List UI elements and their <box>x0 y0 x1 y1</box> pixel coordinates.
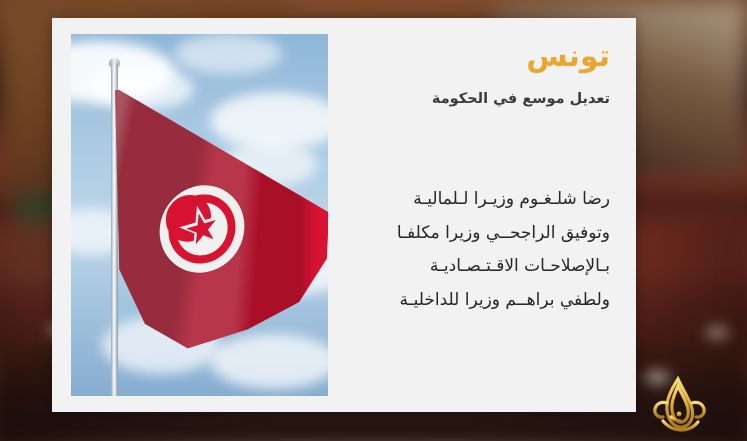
headline-block: تونس تعديل موسع في الحكومة <box>338 40 610 109</box>
broadcast-graphic: تونس تعديل موسع في الحكومة رضا شلـغـوم و… <box>0 0 747 441</box>
body-line: بـالإصلاحـات الاقـتـصـاديـة <box>328 253 610 281</box>
news-card: تونس تعديل موسع في الحكومة رضا شلـغـوم و… <box>52 18 636 412</box>
body-line: رضا شلـغـوم وزيـرا لـلماليـة <box>328 186 610 214</box>
body-line: ولطفي براهــم وزيرا للداخليـة <box>328 287 610 315</box>
headline-subtitle: تعديل موسع في الحكومة <box>338 89 610 109</box>
al-jazeera-logo <box>641 373 715 435</box>
body-text: رضا شلـغـوم وزيـرا لـلماليـة وتوفيق الرا… <box>328 186 610 320</box>
tunisian-flag-photo <box>71 34 328 396</box>
body-line: وتوفيق الراجحــي وزيرا مكلفـا <box>328 220 610 248</box>
country-kicker: تونس <box>338 40 610 73</box>
